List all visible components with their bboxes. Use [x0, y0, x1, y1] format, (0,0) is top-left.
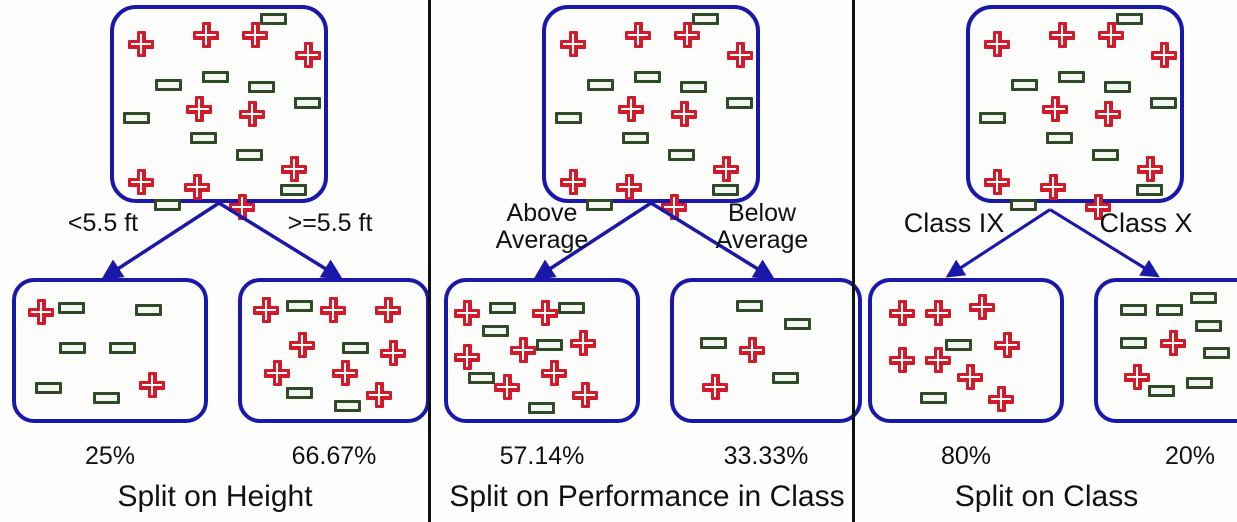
plus-inner-horizontal	[544, 372, 564, 375]
plus-inner-horizontal	[705, 386, 725, 389]
dark-green-bar-symbol	[1156, 304, 1183, 316]
dark-green-bar-symbol	[342, 342, 369, 354]
right-edge-label: Class X	[1061, 210, 1231, 237]
plus-inner-horizontal	[1154, 54, 1174, 57]
red-plus-symbol	[739, 337, 765, 363]
red-plus-symbol	[560, 31, 586, 57]
dark-green-bar-symbol	[920, 392, 947, 404]
panel-divider-1	[428, 0, 431, 522]
right-child-percent: 33.33%	[670, 442, 862, 471]
left-edge-label: <5.5 ft	[18, 210, 188, 237]
red-plus-symbol	[889, 347, 915, 373]
red-plus-symbol	[295, 42, 321, 68]
right-child-node	[1094, 278, 1237, 423]
red-plus-symbol	[925, 300, 951, 326]
dark-green-bar-symbol	[59, 342, 86, 354]
dark-green-bar-symbol	[692, 13, 719, 25]
dark-green-bar-symbol	[1150, 97, 1177, 109]
dark-green-bar-symbol	[668, 149, 695, 161]
red-plus-symbol	[242, 22, 268, 48]
plus-inner-horizontal	[960, 376, 980, 379]
dark-green-bar-symbol	[555, 112, 582, 124]
left-child-percent: 25%	[12, 442, 208, 471]
red-plus-symbol	[281, 156, 307, 182]
dark-green-bar-symbol	[1148, 385, 1175, 397]
red-plus-symbol	[139, 372, 165, 398]
dark-green-bar-symbol	[712, 184, 739, 196]
plus-inner-horizontal	[991, 398, 1011, 401]
red-plus-symbol	[1040, 174, 1066, 200]
left-child-node	[444, 278, 640, 423]
dark-green-bar-symbol	[35, 382, 62, 394]
dark-green-bar-symbol	[528, 402, 555, 414]
plus-inner-horizontal	[1140, 168, 1160, 171]
red-plus-symbol	[128, 31, 154, 57]
dark-green-bar-symbol	[680, 81, 707, 93]
plus-inner-horizontal	[267, 372, 287, 375]
dark-green-bar-symbol	[1195, 320, 1222, 332]
dark-green-bar-symbol	[93, 392, 120, 404]
plus-inner-horizontal	[928, 359, 948, 362]
dark-green-bar-symbol	[784, 318, 811, 330]
dark-green-bar-symbol	[248, 81, 275, 93]
plus-inner-horizontal	[674, 113, 694, 116]
red-plus-symbol	[366, 382, 392, 408]
red-plus-symbol	[674, 22, 700, 48]
dark-green-bar-symbol	[979, 112, 1006, 124]
dark-green-bar-symbol	[558, 302, 585, 314]
plus-inner-horizontal	[131, 181, 151, 184]
red-plus-symbol	[560, 169, 586, 195]
red-plus-symbol	[332, 360, 358, 386]
right-child-node	[670, 278, 862, 423]
red-plus-symbol	[988, 386, 1014, 412]
left-child-percent: 57.14%	[444, 442, 640, 471]
plus-inner-horizontal	[457, 312, 477, 315]
plus-inner-horizontal	[1045, 108, 1065, 111]
red-plus-symbol	[969, 294, 995, 320]
plus-inner-horizontal	[1052, 34, 1072, 37]
red-plus-symbol	[1160, 330, 1186, 356]
plus-inner-horizontal	[383, 352, 403, 355]
red-plus-symbol	[541, 360, 567, 386]
panel-caption: Split on Performance in Class	[432, 480, 862, 514]
right-edge-label: >=5.5 ft	[245, 210, 415, 237]
dark-green-bar-symbol	[536, 339, 563, 351]
plus-inner-horizontal	[242, 113, 262, 116]
dark-green-bar-symbol	[622, 132, 649, 144]
plus-inner-horizontal	[131, 43, 151, 46]
dark-green-bar-symbol	[587, 79, 614, 91]
plus-inner-horizontal	[1098, 113, 1118, 116]
plus-inner-horizontal	[1043, 186, 1063, 189]
red-plus-symbol	[1095, 101, 1121, 127]
right-child-percent: 66.67%	[238, 442, 430, 471]
plus-inner-horizontal	[928, 312, 948, 315]
dark-green-bar-symbol	[1058, 71, 1085, 83]
plus-inner-horizontal	[513, 349, 533, 352]
plus-inner-horizontal	[972, 306, 992, 309]
dark-green-bar-symbol	[286, 300, 313, 312]
red-plus-symbol	[1137, 156, 1163, 182]
plus-inner-horizontal	[621, 108, 641, 111]
dark-green-bar-symbol	[1190, 292, 1217, 304]
dark-green-bar-symbol	[736, 300, 763, 312]
dark-green-bar-symbol	[1092, 149, 1119, 161]
red-plus-symbol	[510, 337, 536, 363]
plus-inner-horizontal	[563, 43, 583, 46]
dark-green-bar-symbol	[190, 132, 217, 144]
plus-inner-horizontal	[187, 186, 207, 189]
red-plus-symbol	[1098, 22, 1124, 48]
plus-inner-horizontal	[575, 394, 595, 397]
red-plus-symbol	[727, 42, 753, 68]
dark-green-bar-symbol	[286, 387, 313, 399]
tree-panel-2: Above AverageBelow Average57.14%33.33%Sp…	[432, 0, 862, 522]
red-plus-symbol	[289, 332, 315, 358]
red-plus-symbol	[1124, 364, 1150, 390]
plus-inner-horizontal	[987, 181, 1007, 184]
red-plus-symbol	[184, 174, 210, 200]
tree-panel-3: Class IXClass X80%20%Split on Class	[856, 0, 1237, 522]
plus-inner-horizontal	[742, 349, 762, 352]
dark-green-bar-symbol	[1186, 377, 1213, 389]
red-plus-symbol	[984, 169, 1010, 195]
red-plus-symbol	[28, 299, 54, 325]
red-plus-symbol	[889, 300, 915, 326]
red-plus-symbol	[193, 22, 219, 48]
plus-inner-horizontal	[196, 34, 216, 37]
plus-inner-horizontal	[323, 309, 343, 312]
red-plus-symbol	[454, 344, 480, 370]
red-plus-symbol	[380, 340, 406, 366]
dark-green-bar-symbol	[726, 97, 753, 109]
red-plus-symbol	[128, 169, 154, 195]
plus-inner-horizontal	[535, 312, 555, 315]
plus-inner-horizontal	[892, 312, 912, 315]
plus-inner-horizontal	[245, 34, 265, 37]
dark-green-bar-symbol	[280, 184, 307, 196]
plus-inner-horizontal	[142, 384, 162, 387]
plus-inner-horizontal	[892, 359, 912, 362]
dark-green-bar-symbol	[294, 97, 321, 109]
panel-caption: Split on Class	[856, 480, 1237, 514]
dark-green-bar-symbol	[1136, 184, 1163, 196]
dark-green-bar-symbol	[1046, 132, 1073, 144]
red-plus-symbol	[625, 22, 651, 48]
dark-green-bar-symbol	[1120, 304, 1147, 316]
dark-green-bar-symbol	[58, 302, 85, 314]
red-plus-symbol	[618, 96, 644, 122]
root-node	[542, 5, 760, 203]
plus-inner-horizontal	[335, 372, 355, 375]
red-plus-symbol	[1049, 22, 1075, 48]
dark-green-bar-symbol	[468, 372, 495, 384]
plus-inner-horizontal	[997, 344, 1017, 347]
left-child-percent: 80%	[868, 442, 1064, 471]
dark-green-bar-symbol	[634, 71, 661, 83]
plus-inner-horizontal	[563, 181, 583, 184]
red-plus-symbol	[957, 364, 983, 390]
left-edge-label: Above Average	[462, 200, 622, 254]
diagram-canvas: <5.5 ft>=5.5 ft25%66.67%Split on HeightA…	[0, 0, 1237, 522]
plus-inner-horizontal	[232, 206, 252, 209]
dark-green-bar-symbol	[123, 112, 150, 124]
dark-green-bar-symbol	[135, 304, 162, 316]
plus-inner-horizontal	[716, 168, 736, 171]
red-plus-symbol	[532, 300, 558, 326]
red-plus-symbol	[264, 360, 290, 386]
red-plus-symbol	[454, 300, 480, 326]
dark-green-bar-symbol	[772, 372, 799, 384]
red-plus-symbol	[253, 297, 279, 323]
plus-inner-horizontal	[677, 34, 697, 37]
red-plus-symbol	[994, 332, 1020, 358]
plus-inner-horizontal	[256, 309, 276, 312]
plus-inner-horizontal	[1127, 376, 1147, 379]
dark-green-bar-symbol	[202, 71, 229, 83]
red-plus-symbol	[671, 101, 697, 127]
dark-green-bar-symbol	[700, 337, 727, 349]
plus-inner-horizontal	[284, 168, 304, 171]
panel-caption: Split on Height	[0, 480, 430, 514]
red-plus-symbol	[239, 101, 265, 127]
root-node	[110, 5, 328, 203]
red-plus-symbol	[702, 374, 728, 400]
plus-inner-horizontal	[1101, 34, 1121, 37]
panel-divider-2	[852, 0, 855, 522]
dark-green-bar-symbol	[334, 400, 361, 412]
plus-inner-horizontal	[189, 108, 209, 111]
red-plus-symbol	[320, 297, 346, 323]
red-plus-symbol	[186, 96, 212, 122]
dark-green-bar-symbol	[482, 325, 509, 337]
tree-panel-1: <5.5 ft>=5.5 ft25%66.67%Split on Height	[0, 0, 430, 522]
red-plus-symbol	[375, 297, 401, 323]
red-plus-symbol	[713, 156, 739, 182]
red-plus-symbol	[570, 330, 596, 356]
dark-green-bar-symbol	[1203, 347, 1230, 359]
plus-inner-horizontal	[298, 54, 318, 57]
plus-inner-horizontal	[573, 342, 593, 345]
dark-green-bar-symbol	[1120, 337, 1147, 349]
dark-green-bar-symbol	[109, 342, 136, 354]
plus-inner-horizontal	[378, 309, 398, 312]
right-child-node	[238, 278, 430, 423]
plus-inner-horizontal	[1163, 342, 1183, 345]
dark-green-bar-symbol	[260, 13, 287, 25]
plus-inner-horizontal	[730, 54, 750, 57]
red-plus-symbol	[494, 374, 520, 400]
plus-inner-horizontal	[619, 186, 639, 189]
plus-inner-horizontal	[987, 43, 1007, 46]
red-plus-symbol	[616, 174, 642, 200]
left-child-node	[12, 278, 208, 423]
dark-green-bar-symbol	[1104, 81, 1131, 93]
red-plus-symbol	[572, 382, 598, 408]
dark-green-bar-symbol	[1011, 79, 1038, 91]
dark-green-bar-symbol	[236, 149, 263, 161]
plus-inner-horizontal	[457, 356, 477, 359]
left-edge-label: Class IX	[864, 210, 1044, 237]
plus-inner-horizontal	[497, 386, 517, 389]
dark-green-bar-symbol	[489, 302, 516, 314]
left-child-node	[868, 278, 1064, 423]
plus-inner-horizontal	[292, 344, 312, 347]
dark-green-bar-symbol	[155, 79, 182, 91]
red-plus-symbol	[1151, 42, 1177, 68]
dark-green-bar-symbol	[1116, 13, 1143, 25]
right-edge-label: Below Average	[677, 200, 847, 254]
red-plus-symbol	[984, 31, 1010, 57]
root-node	[966, 5, 1184, 203]
right-child-percent: 20%	[1094, 442, 1237, 471]
dark-green-bar-symbol	[945, 339, 972, 351]
plus-inner-horizontal	[369, 394, 389, 397]
red-plus-symbol	[1042, 96, 1068, 122]
plus-inner-horizontal	[31, 311, 51, 314]
plus-inner-horizontal	[628, 34, 648, 37]
